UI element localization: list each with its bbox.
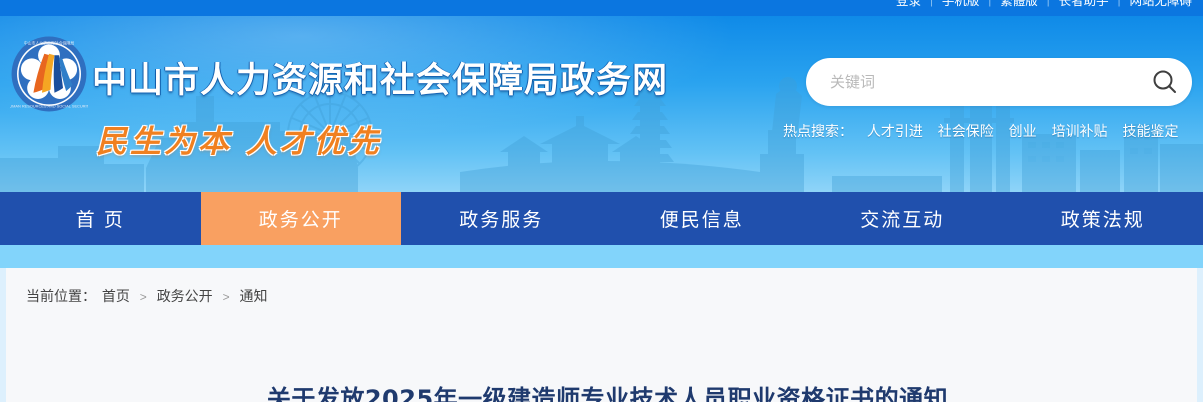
breadcrumb: 当前位置： 首页 > 政务公开 > 通知 xyxy=(26,286,267,306)
nav-item-government-services[interactable]: 政务服务 xyxy=(401,192,602,245)
topbar-link-accessibility[interactable]: 网站无障碍 xyxy=(1120,0,1201,9)
page-root: 登录 | 手机版 | 繁體版 | 长者助手 | 网站无障碍 xyxy=(0,0,1203,402)
topbar-link-login[interactable]: 登录 xyxy=(887,0,930,9)
topbar-link-mobile[interactable]: 手机版 xyxy=(933,0,989,9)
search-icon xyxy=(1150,67,1180,97)
breadcrumb-item-home[interactable]: 首页 xyxy=(102,288,130,304)
site-title: 中山市人力资源和社会保障局政务网 xyxy=(92,52,668,103)
zhongshan-hrss-emblem-icon[interactable]: 中山市人力资源和社会保障局 HUMAN RESOURCES AND SOCIAL… xyxy=(10,35,88,113)
svg-text:HUMAN RESOURCES AND SOCIAL SEC: HUMAN RESOURCES AND SOCIAL SECURITY xyxy=(10,104,88,109)
breadcrumb-label: 当前位置： xyxy=(26,288,96,304)
topbar-link-traditional[interactable]: 繁體版 xyxy=(991,0,1047,9)
hot-search-item-training-subsidy[interactable]: 培训补贴 xyxy=(1052,123,1108,139)
hot-search-bar: 热点搜索： 人才引进 社会保险 创业 培训补贴 技能鉴定 xyxy=(783,121,1189,141)
top-utility-links: 登录 | 手机版 | 繁體版 | 长者助手 | 网站无障碍 xyxy=(887,0,1203,9)
top-utility-bar: 登录 | 手机版 | 繁體版 | 长者助手 | 网站无障碍 xyxy=(0,0,1203,16)
nav-item-government-affairs-disclosure[interactable]: 政务公开 xyxy=(201,192,402,245)
breadcrumb-separator: > xyxy=(140,290,147,304)
site-banner: 中山市人力资源和社会保障局 HUMAN RESOURCES AND SOCIAL… xyxy=(0,16,1203,192)
hot-search-item-social-insurance[interactable]: 社会保险 xyxy=(938,123,994,139)
search-box xyxy=(806,58,1192,106)
hot-search-item-talent[interactable]: 人才引进 xyxy=(867,123,923,139)
search-button[interactable] xyxy=(1138,58,1192,106)
svg-text:中山市人力资源和社会保障局: 中山市人力资源和社会保障局 xyxy=(24,40,75,45)
topbar-link-elder-assistant[interactable]: 长者助手 xyxy=(1050,0,1118,9)
nav-item-home[interactable]: 首 页 xyxy=(0,192,201,245)
breadcrumb-separator: > xyxy=(223,290,230,304)
search-input[interactable] xyxy=(806,60,1138,104)
breadcrumb-item-disclosure[interactable]: 政务公开 xyxy=(157,288,213,304)
nav-item-interaction[interactable]: 交流互动 xyxy=(802,192,1003,245)
breadcrumb-item-notice[interactable]: 通知 xyxy=(239,288,267,304)
article-title: 关于发放2025年一级建造师专业技术人员职业资格证书的通知 xyxy=(6,379,1203,402)
hot-search-item-skill-appraisal[interactable]: 技能鉴定 xyxy=(1122,123,1178,139)
main-navigation: 首 页 政务公开 政务服务 便民信息 交流互动 政策法规 xyxy=(0,192,1203,245)
nav-underline-strip xyxy=(0,245,1203,268)
nav-item-policies-regulations[interactable]: 政策法规 xyxy=(1003,192,1203,245)
hot-search-item-entrepreneurship[interactable]: 创业 xyxy=(1009,123,1037,139)
site-slogan: 民生为本 人才优先 xyxy=(96,116,382,161)
content-area: 当前位置： 首页 > 政务公开 > 通知 关于发放2025年一级建造师专业技术人… xyxy=(0,268,1203,402)
hot-search-label: 热点搜索： xyxy=(783,123,853,139)
nav-item-public-information[interactable]: 便民信息 xyxy=(602,192,803,245)
